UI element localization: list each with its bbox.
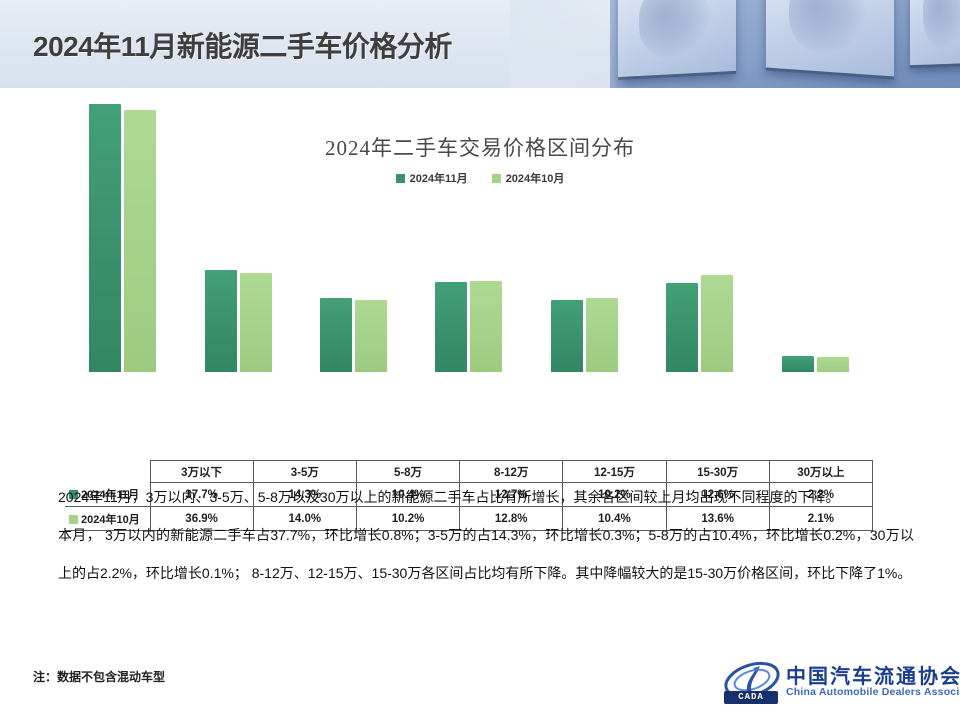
bar-5-8万-2024年10月 xyxy=(355,300,387,372)
analysis-paragraph-2: 本月， 3万以内的新能源二手车占37.7%，环比增长0.8%；3-5万的占14.… xyxy=(58,516,914,592)
bar-12-15万-2024年11月 xyxy=(551,300,583,372)
bar-group-2 xyxy=(296,88,411,372)
bar-group-1 xyxy=(180,88,295,372)
page-title: 2024年11月新能源二手车价格分析 xyxy=(33,25,452,65)
analysis-paragraph-1: 2024年11月，3万以内、3-5万、5-8万以及30万以上的新能源二手车占比有… xyxy=(58,478,914,516)
cube-shape-2 xyxy=(766,0,894,79)
logo-text-en: China Automobile Dealers Association xyxy=(786,686,960,698)
bar-30万以上-2024年10月 xyxy=(817,357,849,372)
cube-shape-1 xyxy=(618,0,736,80)
bar-3-5万-2024年11月 xyxy=(205,270,237,372)
bar-5-8万-2024年11月 xyxy=(320,298,352,372)
bar-3万以下-2024年10月 xyxy=(124,110,156,372)
footnote: 注：数据不包含混动车型 xyxy=(33,668,165,685)
slide-header-band: 2024年11月新能源二手车价格分析 xyxy=(0,0,960,88)
cube-shape-3 xyxy=(910,0,960,68)
bar-15-30万-2024年11月 xyxy=(666,283,698,372)
bar-12-15万-2024年10月 xyxy=(586,298,618,372)
bar-3-5万-2024年10月 xyxy=(240,273,272,372)
world-map-overlay-1 xyxy=(639,0,712,61)
bar-3万以下-2024年11月 xyxy=(89,104,121,372)
header-decorative-cubes-image xyxy=(610,0,960,88)
bar-group-0 xyxy=(65,88,180,372)
bar-15-30万-2024年10月 xyxy=(701,275,733,372)
bar-group-3 xyxy=(411,88,526,372)
bar-group-6 xyxy=(758,88,873,372)
bar-8-12万-2024年11月 xyxy=(435,282,467,372)
analysis-text: 2024年11月，3万以内、3-5万、5-8万以及30万以上的新能源二手车占比有… xyxy=(58,478,914,592)
world-map-overlay-3 xyxy=(923,0,960,50)
bar-group-4 xyxy=(527,88,642,372)
world-map-overlay-2 xyxy=(789,0,868,58)
bar-group-5 xyxy=(642,88,757,372)
cada-abbr-badge: CADA xyxy=(724,691,778,704)
bar-groups xyxy=(65,88,873,372)
chart-container: 2024年二手车交易价格区间分布 2024年11月 2024年10月 xyxy=(0,88,960,458)
cada-logo: CADA 中国汽车流通协会 China Automobile Dealers A… xyxy=(722,658,934,710)
bar-8-12万-2024年10月 xyxy=(470,281,502,372)
chart-plot-area xyxy=(65,88,873,372)
bar-30万以上-2024年11月 xyxy=(782,356,814,372)
header-gradient-fade xyxy=(510,0,630,88)
logo-text-cn: 中国汽车流通协会 xyxy=(786,660,960,689)
